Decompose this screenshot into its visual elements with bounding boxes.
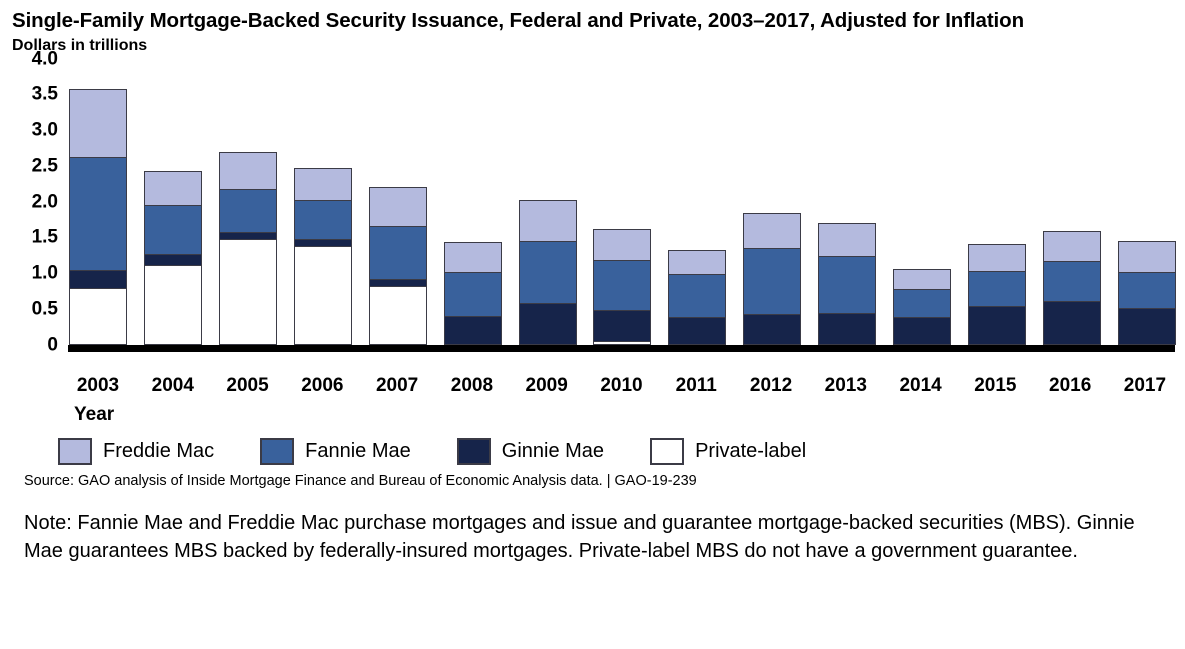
bar-segment[interactable] (520, 241, 576, 303)
bar-segment[interactable] (220, 189, 276, 232)
bar-segment[interactable] (969, 306, 1025, 344)
bar-column[interactable] (293, 59, 353, 345)
footnote: Note: Fannie Mae and Freddie Mac purchas… (24, 510, 1175, 565)
legend-item[interactable]: Private-label (650, 438, 806, 465)
x-axis: 2003200420052006200720082009201020112012… (68, 376, 1175, 402)
legend-item[interactable]: Fannie Mae (260, 438, 411, 465)
bar-column[interactable] (143, 59, 203, 345)
bar-segment[interactable] (1044, 261, 1100, 302)
bar-column[interactable] (1042, 59, 1102, 345)
bar-column[interactable] (817, 59, 877, 345)
bar-column[interactable] (1117, 59, 1177, 345)
bar-column[interactable] (518, 59, 578, 345)
x-axis-tick: 2005 (218, 376, 278, 402)
legend-label: Private-label (695, 441, 806, 461)
bar-segment[interactable] (370, 286, 426, 344)
stacked-bar-2005[interactable] (219, 152, 277, 345)
x-axis-tick: 2007 (367, 376, 427, 402)
bar-segment[interactable] (70, 270, 126, 288)
bar-column[interactable] (667, 59, 727, 345)
stacked-bar-2010[interactable] (593, 229, 651, 345)
bar-segment[interactable] (1119, 272, 1175, 308)
bar-segment[interactable] (370, 226, 426, 278)
bar-segment[interactable] (220, 153, 276, 189)
bar-segment[interactable] (969, 245, 1025, 271)
x-axis-line (68, 345, 1175, 352)
x-axis-title: Year (74, 404, 1175, 426)
stacked-bar-2016[interactable] (1043, 231, 1101, 345)
bar-segment[interactable] (594, 230, 650, 260)
chart-legend: Freddie MacFannie MaeGinnie MaePrivate-l… (58, 438, 1175, 465)
bar-segment[interactable] (445, 316, 501, 344)
chart-page: Single-Family Mortgage-Backed Security I… (0, 0, 1185, 649)
legend-swatch-icon (260, 438, 294, 465)
x-axis-tick: 2012 (741, 376, 801, 402)
chart-subtitle: Dollars in trillions (12, 37, 1175, 55)
bar-column[interactable] (443, 59, 503, 345)
bar-segment[interactable] (594, 260, 650, 310)
source-note: Source: GAO analysis of Inside Mortgage … (24, 473, 1175, 490)
bar-segment[interactable] (894, 289, 950, 317)
legend-swatch-icon (58, 438, 92, 465)
y-axis-tick: 0.5 (12, 299, 58, 318)
bar-column[interactable] (892, 59, 952, 345)
bar-segment[interactable] (445, 272, 501, 316)
bar-column[interactable] (68, 59, 128, 345)
bar-segment[interactable] (295, 246, 351, 344)
bar-segment[interactable] (145, 254, 201, 265)
bar-segment[interactable] (1119, 308, 1175, 344)
bar-segment[interactable] (520, 303, 576, 344)
bar-segment[interactable] (370, 188, 426, 226)
page-title: Single-Family Mortgage-Backed Security I… (12, 8, 1142, 33)
bar-segment[interactable] (819, 256, 875, 312)
x-axis-tick: 2008 (442, 376, 502, 402)
y-axis-tick: 3.5 (12, 85, 58, 104)
bar-segment[interactable] (70, 90, 126, 157)
stacked-bar-2009[interactable] (519, 200, 577, 344)
x-axis-tick: 2010 (591, 376, 651, 402)
x-axis-tick: 2013 (816, 376, 876, 402)
bar-segment[interactable] (819, 313, 875, 344)
bar-segment[interactable] (744, 214, 800, 248)
y-axis-tick: 0 (12, 335, 58, 354)
bar-segment[interactable] (969, 271, 1025, 306)
legend-swatch-icon (457, 438, 491, 465)
bar-segment[interactable] (520, 201, 576, 240)
x-axis-tick: 2017 (1115, 376, 1175, 402)
stacked-bar-2007[interactable] (369, 187, 427, 344)
y-axis-tick: 1.0 (12, 264, 58, 283)
bar-segment[interactable] (1044, 232, 1100, 261)
x-axis-tick: 2015 (965, 376, 1025, 402)
bar-segment[interactable] (445, 243, 501, 272)
bar-segment[interactable] (819, 224, 875, 257)
x-axis-tick: 2006 (292, 376, 352, 402)
bar-segment[interactable] (145, 205, 201, 254)
y-axis-tick: 3.0 (12, 121, 58, 140)
bar-column[interactable] (218, 59, 278, 345)
y-axis-tick: 2.5 (12, 156, 58, 175)
bar-segment[interactable] (145, 265, 201, 344)
y-axis: 00.51.01.52.02.53.03.54.0 (12, 59, 58, 359)
x-axis-tick: 2004 (143, 376, 203, 402)
legend-label: Freddie Mac (103, 441, 214, 461)
bar-segment[interactable] (220, 239, 276, 343)
x-axis-tick: 2014 (891, 376, 951, 402)
legend-item[interactable]: Freddie Mac (58, 438, 214, 465)
stacked-bar-2006[interactable] (294, 168, 352, 344)
bar-segment[interactable] (894, 317, 950, 343)
bar-segment[interactable] (744, 248, 800, 314)
x-axis-tick: 2016 (1040, 376, 1100, 402)
x-axis-tick: 2003 (68, 376, 128, 402)
x-axis-tick: 2011 (666, 376, 726, 402)
bar-column[interactable] (742, 59, 802, 345)
bar-segment[interactable] (594, 341, 650, 343)
bar-segment[interactable] (295, 200, 351, 239)
plot-canvas (68, 59, 1177, 345)
stacked-bar-2017[interactable] (1118, 241, 1176, 345)
stacked-bar-2008[interactable] (444, 242, 502, 345)
stacked-bar-2012[interactable] (743, 213, 801, 344)
bar-segment[interactable] (1119, 242, 1175, 272)
bar-group (68, 59, 1177, 345)
stacked-bar-2015[interactable] (968, 244, 1026, 345)
bar-column[interactable] (592, 59, 652, 345)
bar-segment[interactable] (594, 310, 650, 341)
legend-swatch-icon (650, 438, 684, 465)
y-axis-tick: 4.0 (12, 49, 58, 68)
bar-segment[interactable] (70, 157, 126, 270)
legend-item[interactable]: Ginnie Mae (457, 438, 604, 465)
stacked-bar-2014[interactable] (893, 269, 951, 345)
bar-segment[interactable] (370, 279, 426, 286)
stacked-bar-2004[interactable] (144, 171, 202, 345)
stacked-bar-2011[interactable] (668, 250, 726, 345)
bar-column[interactable] (368, 59, 428, 345)
bar-segment[interactable] (894, 270, 950, 289)
bar-segment[interactable] (70, 288, 126, 344)
bar-segment[interactable] (145, 172, 201, 205)
bar-column[interactable] (967, 59, 1027, 345)
stacked-bar-2003[interactable] (69, 89, 127, 345)
bar-segment[interactable] (220, 232, 276, 239)
stacked-bar-2013[interactable] (818, 223, 876, 345)
y-axis-tick: 2.0 (12, 192, 58, 211)
plot-area: 00.51.01.52.02.53.03.54.0 (12, 59, 1177, 371)
legend-label: Fannie Mae (305, 441, 411, 461)
bar-segment[interactable] (669, 317, 725, 343)
bar-segment[interactable] (744, 314, 800, 343)
bar-segment[interactable] (295, 169, 351, 200)
y-axis-tick: 1.5 (12, 228, 58, 247)
bar-segment[interactable] (1044, 301, 1100, 343)
x-axis-tick: 2009 (517, 376, 577, 402)
bar-segment[interactable] (669, 274, 725, 317)
bar-segment[interactable] (669, 251, 725, 275)
legend-label: Ginnie Mae (502, 441, 604, 461)
